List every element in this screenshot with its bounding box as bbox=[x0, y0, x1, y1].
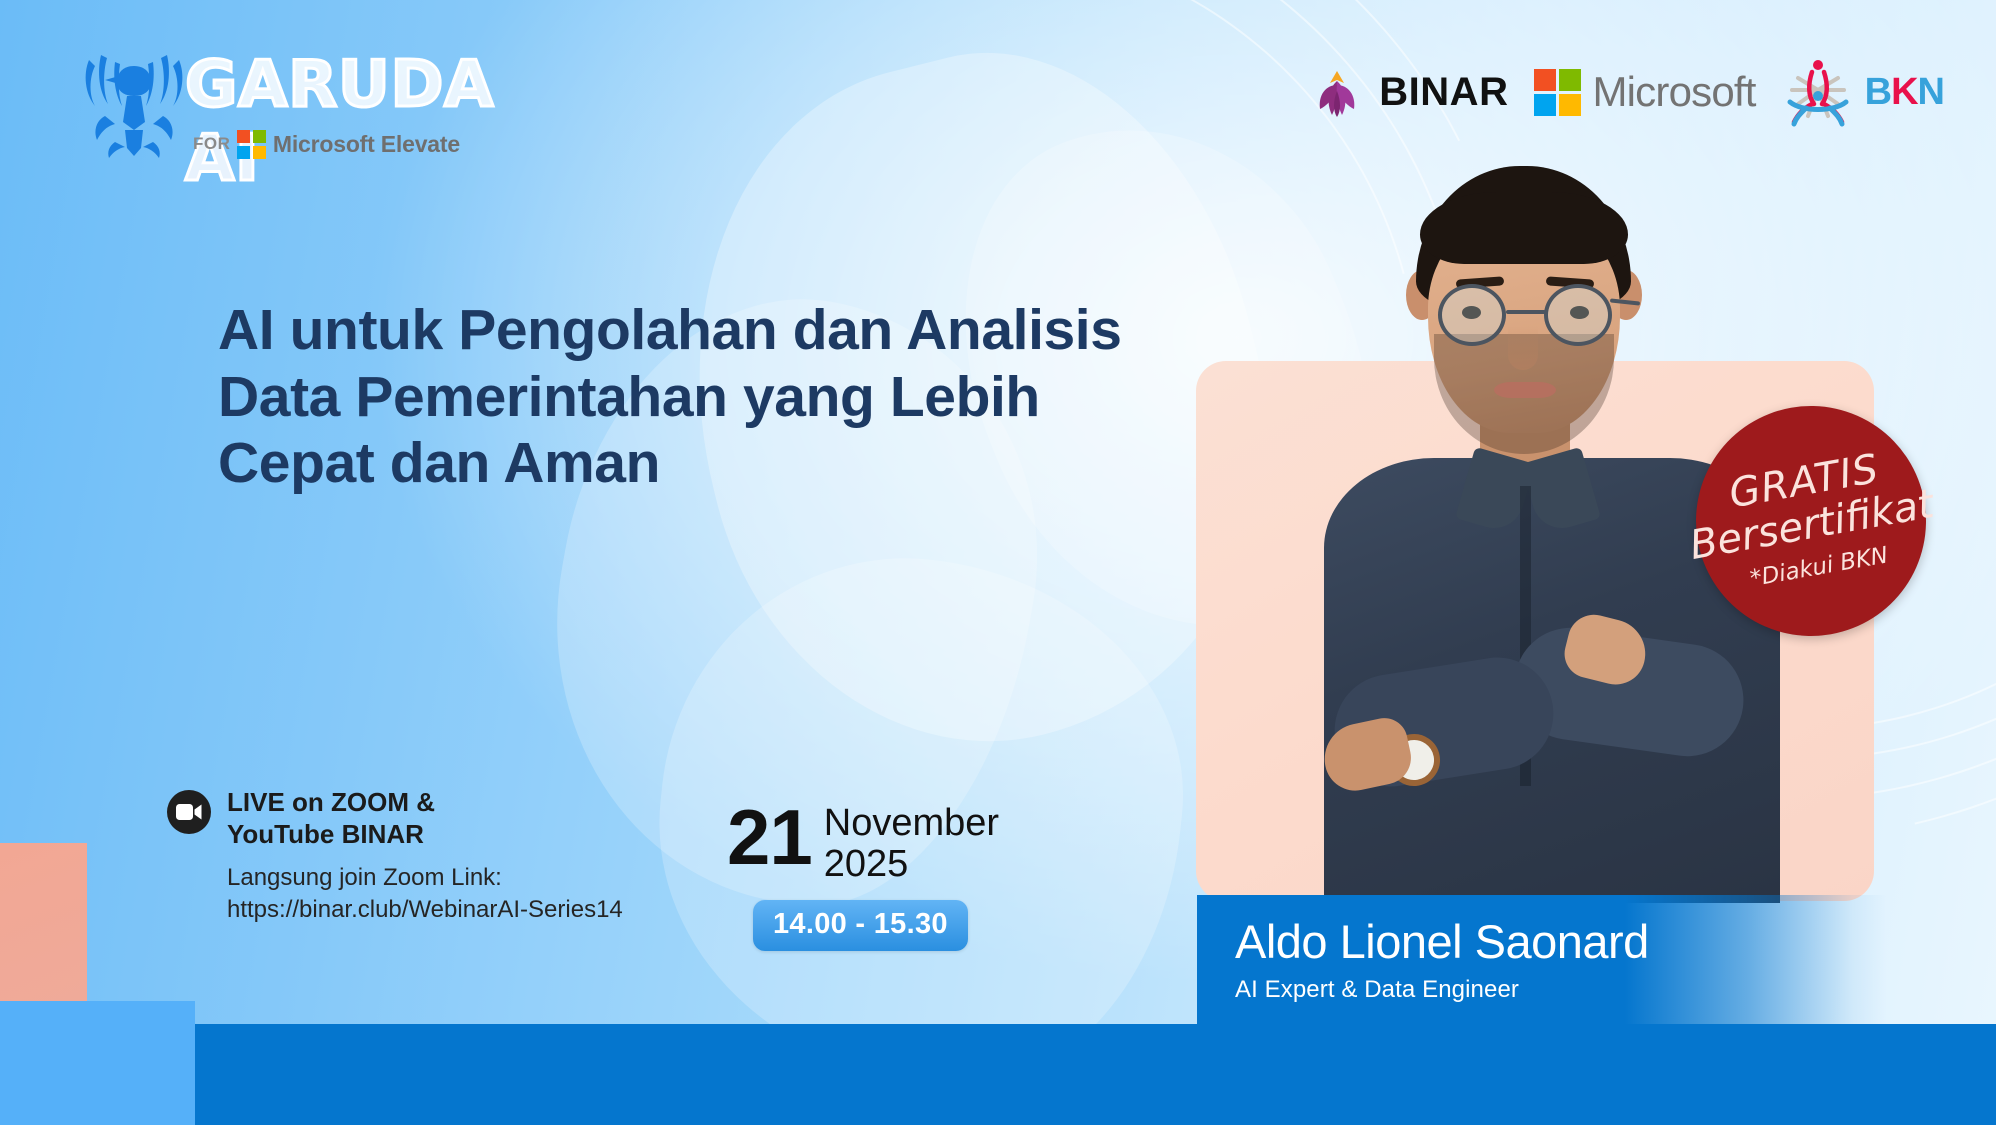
bkn-figure-icon bbox=[1782, 56, 1854, 128]
event-date-block: 21 November 2025 14.00 - 15.30 bbox=[727, 800, 999, 951]
event-year: 2025 bbox=[824, 843, 909, 885]
event-month-year: November 2025 bbox=[824, 803, 999, 885]
partner-binar[interactable]: BINAR bbox=[1306, 61, 1508, 123]
garuda-eagle-icon bbox=[75, 52, 193, 160]
bottom-blue-bar bbox=[195, 1024, 1996, 1125]
microsoft-label: Microsoft bbox=[1592, 68, 1755, 116]
event-day: 21 bbox=[727, 800, 812, 874]
event-time-badge: 14.00 - 15.30 bbox=[753, 900, 968, 951]
garuda-ai-logo[interactable]: GARUDA AI FOR Microsoft Elevate bbox=[75, 52, 545, 164]
microsoft-squares-icon bbox=[237, 130, 266, 159]
binar-label: BINAR bbox=[1379, 70, 1508, 115]
bkn-letter-k: K bbox=[1891, 71, 1917, 113]
for-label: FOR bbox=[193, 134, 230, 154]
bkn-label: BKN bbox=[1865, 71, 1944, 114]
zoom-link-note: Langsung join Zoom Link: https://binar.c… bbox=[227, 862, 687, 924]
live-heading-line1: LIVE on ZOOM & bbox=[227, 787, 435, 817]
partner-bkn[interactable]: BKN bbox=[1782, 56, 1944, 128]
partner-microsoft[interactable]: Microsoft bbox=[1534, 68, 1755, 116]
garuda-ai-wordmark: GARUDA AI bbox=[185, 48, 545, 196]
speaker-name: Aldo Lionel Saonard bbox=[1235, 917, 1887, 966]
page-title: AI untuk Pengolahan dan Analisis Data Pe… bbox=[218, 297, 1148, 497]
bkn-letter-n: N bbox=[1918, 71, 1944, 113]
live-heading: LIVE on ZOOM & YouTube BINAR bbox=[227, 787, 435, 850]
event-month: November bbox=[824, 802, 999, 844]
live-heading-line2: YouTube BINAR bbox=[227, 819, 424, 849]
zoom-video-camera-icon bbox=[167, 790, 211, 834]
speaker-role: AI Expert & Data Engineer bbox=[1235, 976, 1887, 1004]
binar-lotus-icon bbox=[1306, 61, 1368, 123]
speaker-name-banner: Aldo Lionel Saonard AI Expert & Data Eng… bbox=[1197, 895, 1887, 1024]
webinar-poster: GARUDA AI FOR Microsoft Elevate BINAR bbox=[0, 0, 1996, 1125]
microsoft-elevate-label: Microsoft Elevate bbox=[273, 131, 460, 158]
zoom-link-label: Langsung join Zoom Link: bbox=[227, 864, 502, 891]
partner-logos: BINAR Microsoft bbox=[1306, 56, 1944, 128]
zoom-link-url[interactable]: https://binar.club/WebinarAI-Series14 bbox=[227, 896, 623, 923]
microsoft-elevate-lockup: FOR Microsoft Elevate bbox=[193, 130, 460, 159]
bkn-letter-b: B bbox=[1865, 71, 1891, 113]
microsoft-squares-icon bbox=[1534, 69, 1581, 116]
corner-blue-block bbox=[0, 1001, 195, 1125]
live-info-block: LIVE on ZOOM & YouTube BINAR Langsung jo… bbox=[167, 787, 687, 925]
